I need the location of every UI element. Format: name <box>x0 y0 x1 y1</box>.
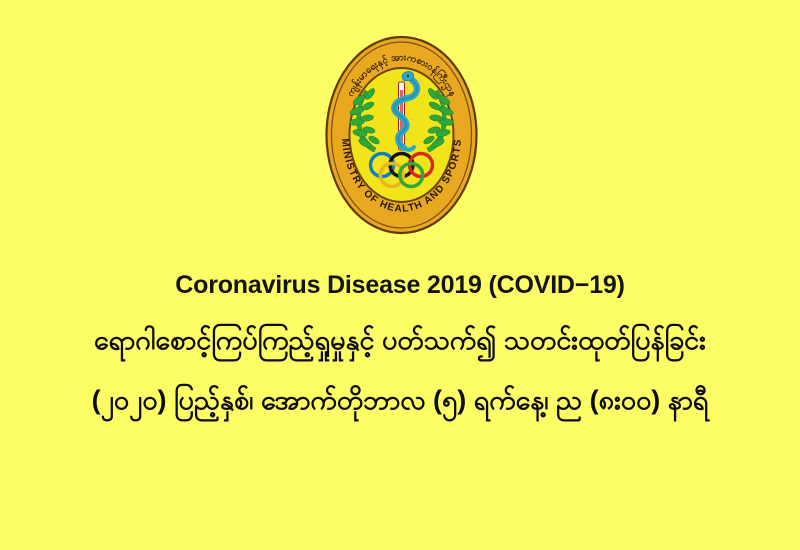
page-title-english: Coronavirus Disease 2019 (COVID−19) <box>0 270 800 300</box>
subtitle-burmese: ရောဂါစောင့်ကြပ်ကြည့်ရှုမှုနှင့် ပတ်သက်၍ … <box>0 322 800 358</box>
datetime-burmese: (၂၀၂၀) ပြည့်နှစ်၊ အောက်တိုဘာလ (၅) ရက်နေ့… <box>0 382 800 418</box>
ministry-seal-logo: ကျန်းမာရေးနှင့် အားကစားဝန်ကြီးဌာန MINIST… <box>324 34 479 236</box>
headline-text-block: Coronavirus Disease 2019 (COVID−19) ရောဂ… <box>0 270 800 419</box>
press-release-banner: ကျန်းမာရေးနှင့် အားကစားဝန်ကြီးဌာန MINIST… <box>0 0 800 550</box>
